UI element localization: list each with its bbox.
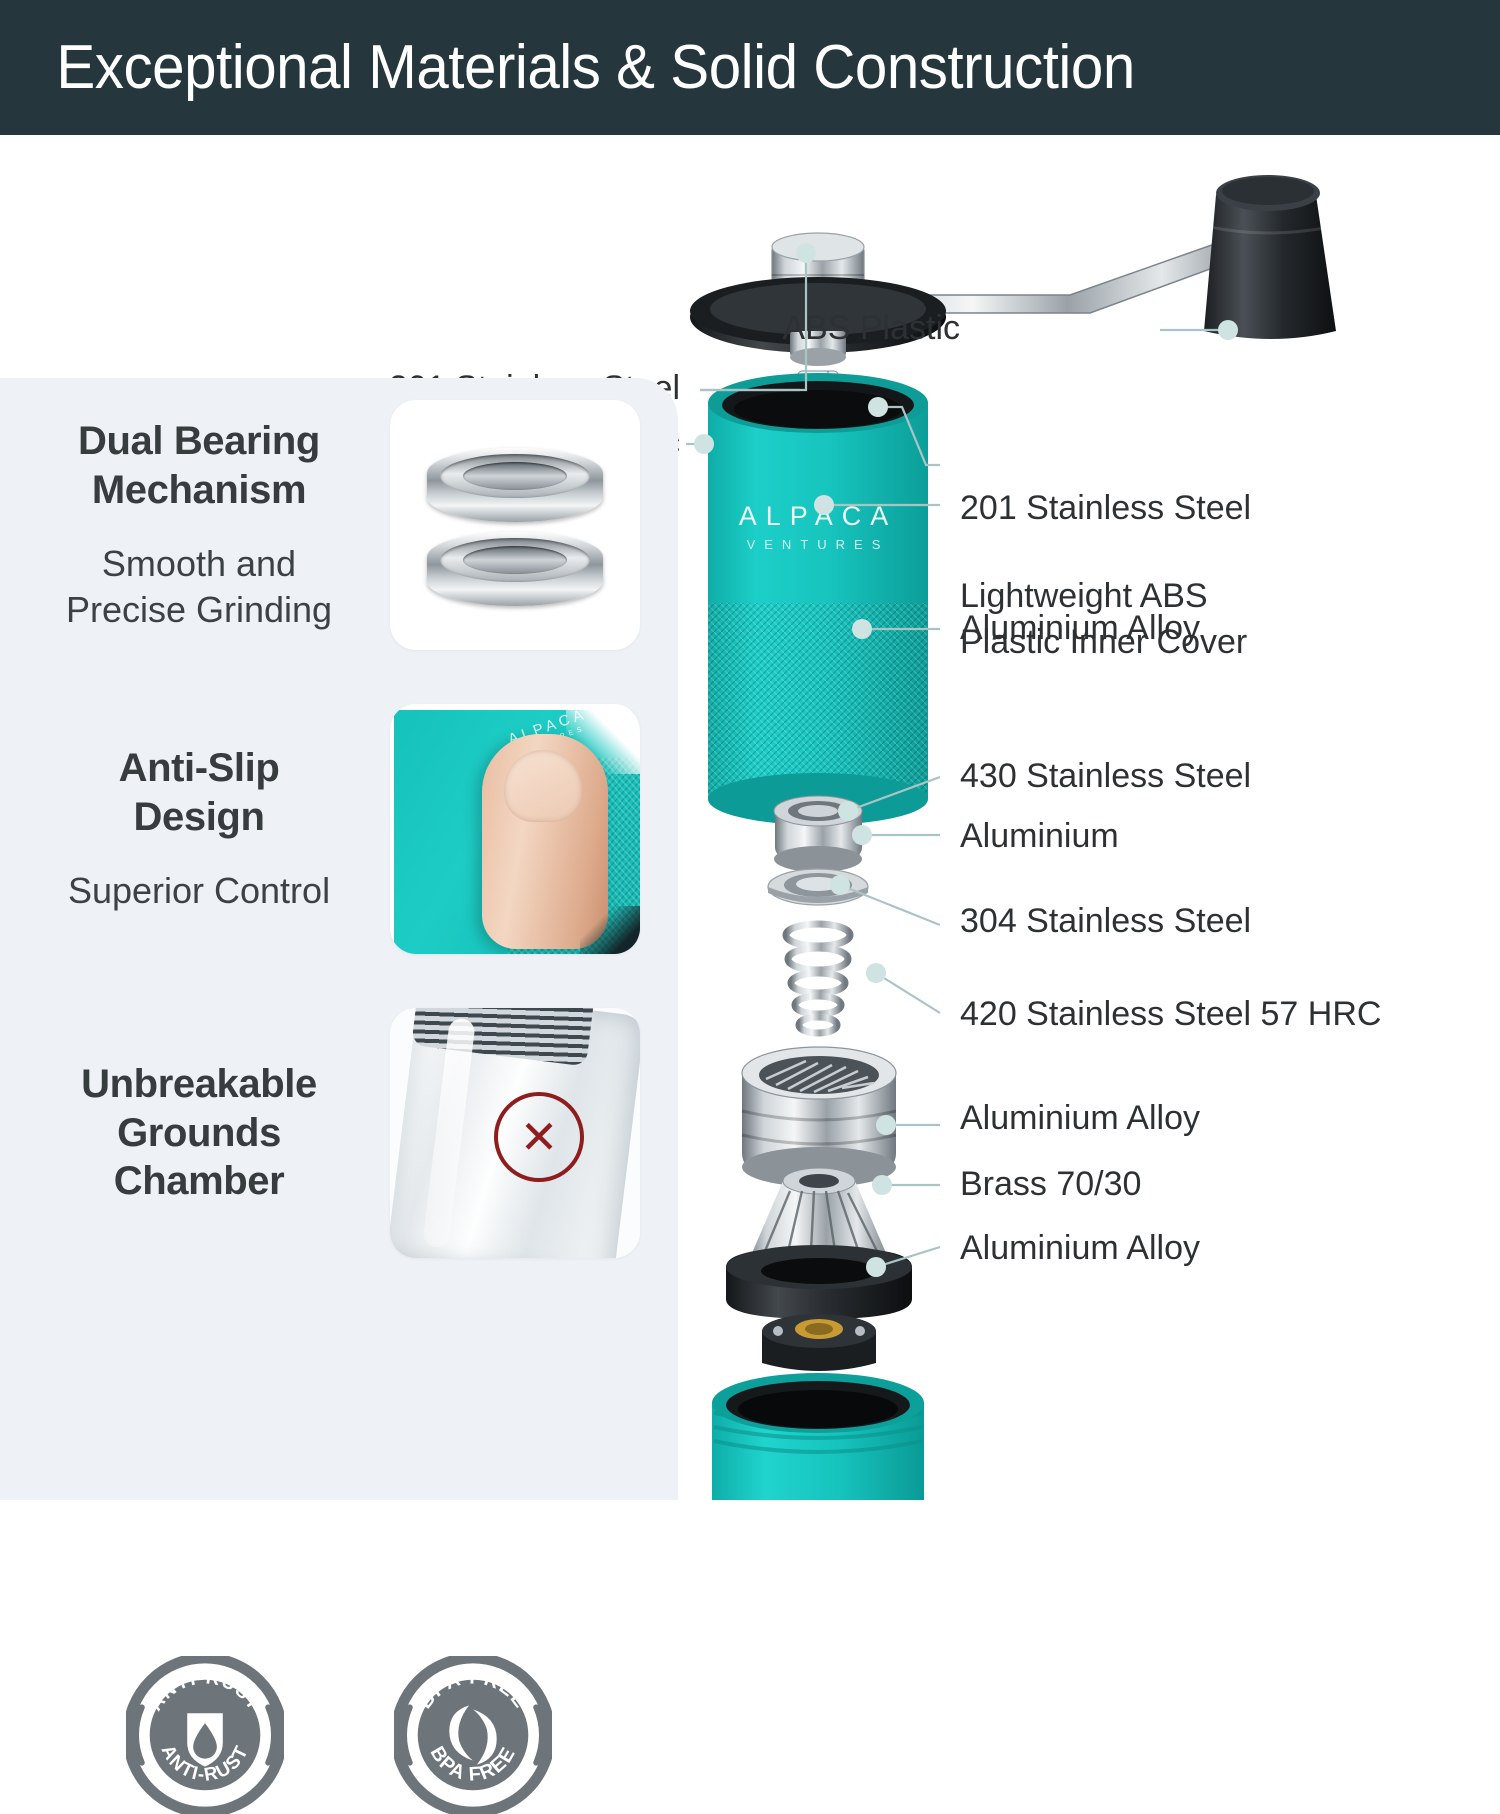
anti-slip-grip-photo: ALPACA VENTURES — [390, 704, 640, 954]
burr-holder-ring — [726, 1245, 912, 1319]
callout-420-stainless-steel-57-hrc: 420 Stainless Steel 57 HRC — [960, 993, 1381, 1035]
grip-illustration: ALPACA VENTURES — [390, 704, 640, 954]
feature-title-line1: Anti-Slip — [8, 744, 390, 793]
thumbnail — [504, 750, 582, 822]
spring — [786, 924, 850, 1033]
feature-subtitle: Superior Control — [8, 868, 390, 914]
callout-201-stainless-steel-shaft: 201 Stainless Steel — [960, 487, 1251, 529]
brass-nut-disc — [762, 1314, 876, 1371]
callout-aluminium-washer: Aluminium — [960, 815, 1119, 857]
anti-rust-badge-graphic: ANTI-RUST ANTI-RUST — [126, 1656, 284, 1814]
feature-subtitle-line2: Precise Grinding — [8, 587, 390, 633]
washer — [768, 869, 868, 905]
ring-burr — [742, 1047, 896, 1187]
certification-badges: ANTI-RUST ANTI-RUST BPA F — [0, 1656, 678, 1814]
feature-title: Anti-Slip Design — [8, 744, 390, 842]
no-glass-x-icon: ✕ — [494, 1092, 584, 1182]
bpa-free-badge-graphic: BPA FREE BPA FREE — [394, 1656, 552, 1814]
body-logo-ventures: VENTURES — [747, 537, 890, 552]
shadow — [580, 906, 640, 954]
glass-jar-photo: ✕ — [390, 1008, 640, 1258]
callout-aluminium-alloy-cup: Aluminium Alloy — [960, 1227, 1200, 1269]
callout-brass-70-30: Brass 70/30 — [960, 1163, 1141, 1205]
feature-dual-bearing: Dual Bearing Mechanism Smooth and Precis… — [0, 400, 678, 650]
feature-unbreakable-text: Unbreakable Grounds Chamber — [0, 1060, 390, 1206]
feature-title-line2: Mechanism — [8, 466, 390, 515]
feature-dual-bearing-text: Dual Bearing Mechanism Smooth and Precis… — [0, 417, 390, 633]
feature-title: Dual Bearing Mechanism — [8, 417, 390, 515]
grinder-body: ALPACA VENTURES — [708, 373, 928, 825]
features-panel: Dual Bearing Mechanism Smooth and Precis… — [0, 378, 678, 1500]
feature-title-line3: Chamber — [8, 1157, 390, 1206]
feature-title-line2: Grounds — [8, 1109, 390, 1158]
feature-title-line1: Dual Bearing — [8, 417, 390, 466]
feature-title-line1: Unbreakable — [8, 1060, 390, 1109]
bpa-free-badge: BPA FREE BPA FREE — [394, 1656, 552, 1814]
anti-rust-badge: ANTI-RUST ANTI-RUST — [126, 1656, 284, 1814]
catch-cup — [712, 1373, 924, 1500]
bearing-lower-icon — [427, 532, 603, 606]
feature-unbreakable-chamber: Unbreakable Grounds Chamber ✕ — [0, 1008, 678, 1258]
callout-aluminium-alloy-holder: Aluminium Alloy — [960, 1097, 1200, 1139]
feature-subtitle-line1: Smooth and — [8, 541, 390, 587]
callout-430-stainless-steel: 430 Stainless Steel — [960, 755, 1251, 797]
dual-bearing-photo — [390, 400, 640, 650]
callout-304-stainless-steel: 304 Stainless Steel — [960, 900, 1251, 942]
crank-knob — [1204, 175, 1336, 339]
feature-subtitle-line1: Superior Control — [8, 868, 390, 914]
feature-title-line2: Design — [8, 793, 390, 842]
feature-subtitle: Smooth and Precise Grinding — [8, 541, 390, 633]
feature-anti-slip: Anti-Slip Design Superior Control ALPACA… — [0, 704, 678, 954]
page-title: Exceptional Materials & Solid Constructi… — [0, 32, 1135, 103]
feature-anti-slip-text: Anti-Slip Design Superior Control — [0, 744, 390, 914]
jar-illustration: ✕ — [390, 1008, 640, 1258]
page-header: Exceptional Materials & Solid Constructi… — [0, 0, 1500, 135]
bearing-upper-icon — [427, 448, 603, 522]
feature-title: Unbreakable Grounds Chamber — [8, 1060, 390, 1206]
callout-aluminium-alloy-body: Aluminium Alloy — [960, 607, 1200, 649]
callout-abs-plastic-knob: ABS Plastic — [590, 307, 960, 349]
